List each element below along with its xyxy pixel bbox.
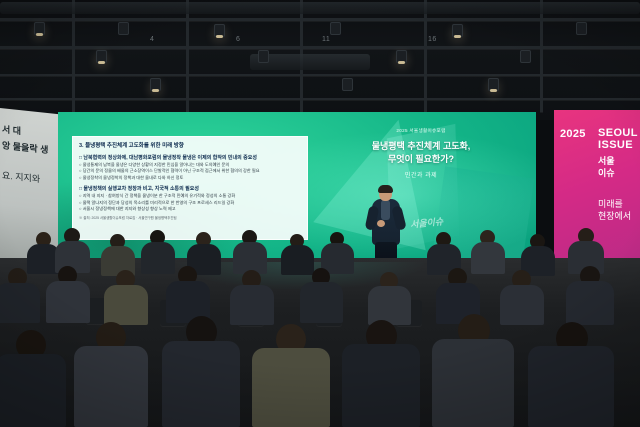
stage-light — [214, 24, 225, 37]
stage-light — [576, 22, 587, 35]
slide-footnote: ※ 출처: 2025 서울생활이슈포럼 자료집 · 서울연구원 물냉평택추진팀 — [79, 216, 301, 221]
stage-light — [34, 22, 45, 35]
audience-body — [471, 242, 505, 274]
panel-brand-line1: SEOUL — [598, 127, 638, 139]
photo-scene: 4 6 11 16 서 대 앙 물을락 생 요. 지지와 3. 물냉평택 추진체… — [0, 0, 640, 427]
audience-body — [74, 346, 148, 427]
stage-light — [396, 50, 407, 63]
stage-light — [452, 24, 463, 37]
left-wall-text-line3: 요. 지지와 — [2, 168, 58, 188]
slide-section-2: □ 물냉정책의 실행교차 정창과 비고, 지국적 소통의 필요성 — [79, 185, 301, 193]
ceiling-marker: 4 — [150, 36, 154, 43]
panel-subtitle-line1: 미래를 — [598, 198, 623, 210]
ceiling-marker: 6 — [236, 36, 240, 43]
slide-bullet: ○ 물냉정착의 물냉정착의 정책과 대한 물내로 다와 하신 정토 — [79, 175, 301, 181]
ceiling-marker: 16 — [428, 36, 437, 43]
stage-light — [118, 22, 129, 35]
ceiling-marker: 11 — [322, 36, 330, 43]
speaker-hand — [377, 220, 385, 227]
stage-light — [258, 50, 269, 63]
audience-body — [141, 242, 175, 274]
audience-body — [252, 348, 330, 427]
ceiling-truss — [72, 0, 75, 112]
panel-subtitle-line2: 현장에서 — [598, 210, 631, 222]
ceiling-truss — [0, 74, 640, 76]
panel-korean-line2: 이슈 — [598, 168, 615, 179]
slide-title: 3. 물냉평택 추진체계 고도화를 위한 미래 방향 — [79, 142, 301, 150]
ceiling-area: 4 6 11 16 — [0, 0, 640, 120]
slide-section-1: □ 남북협력의 정상화에, 대남평화포럼의 물냉정착 물냉은 이제의 합작의 민… — [79, 154, 301, 162]
audience-body — [281, 245, 314, 275]
panel-brand-line2: ISSUE — [598, 139, 633, 151]
ceiling-truss — [186, 0, 189, 112]
audience-body — [342, 344, 420, 427]
ceiling-truss — [0, 18, 640, 21]
audience-body — [0, 283, 40, 323]
stage-light — [342, 78, 353, 91]
stage-light — [96, 50, 107, 63]
screen-headline-line1: 물냉평택 추진체계 고도화, — [326, 140, 516, 153]
audience-body — [46, 281, 90, 323]
speaker-shirt — [381, 200, 390, 220]
audience-body — [0, 354, 66, 427]
stage-light — [520, 50, 531, 63]
presentation-slide: 3. 물냉평택 추진체계 고도화를 위한 미래 방향 □ 남북협력의 정상화에,… — [72, 136, 308, 240]
screen-subtitle: 민간과 과제 — [326, 170, 516, 179]
screen-event-label: 2025 서울생활이슈포럼 — [326, 128, 516, 134]
ceiling-truss — [0, 98, 640, 100]
ceiling-truss — [424, 0, 427, 112]
ceiling-duct — [0, 2, 640, 14]
panel-korean-line1: 서울 — [598, 156, 615, 167]
audience-body — [528, 346, 614, 427]
panel-year: 2025 — [560, 128, 586, 140]
screen-headline-line2: 무엇이 필요한가? — [326, 153, 516, 166]
audience-body — [230, 285, 274, 325]
audience-body — [500, 285, 544, 325]
speaker-hair — [378, 185, 393, 193]
audience-body — [162, 341, 240, 427]
stage-light — [488, 78, 499, 91]
ceiling-truss — [540, 0, 543, 112]
audience-body — [432, 339, 514, 427]
stage-light — [150, 78, 161, 91]
speaker-person — [366, 186, 406, 264]
audience-body — [104, 285, 148, 325]
audience-body — [566, 281, 614, 325]
stage-light — [330, 22, 341, 35]
ceiling-truss — [0, 46, 640, 49]
audience-body — [368, 286, 411, 325]
slide-bullet: ○ 서울시 정냉정책에 대한 지지와 향상성 향상 노력 제고 — [79, 206, 301, 212]
audience-body — [300, 282, 343, 323]
